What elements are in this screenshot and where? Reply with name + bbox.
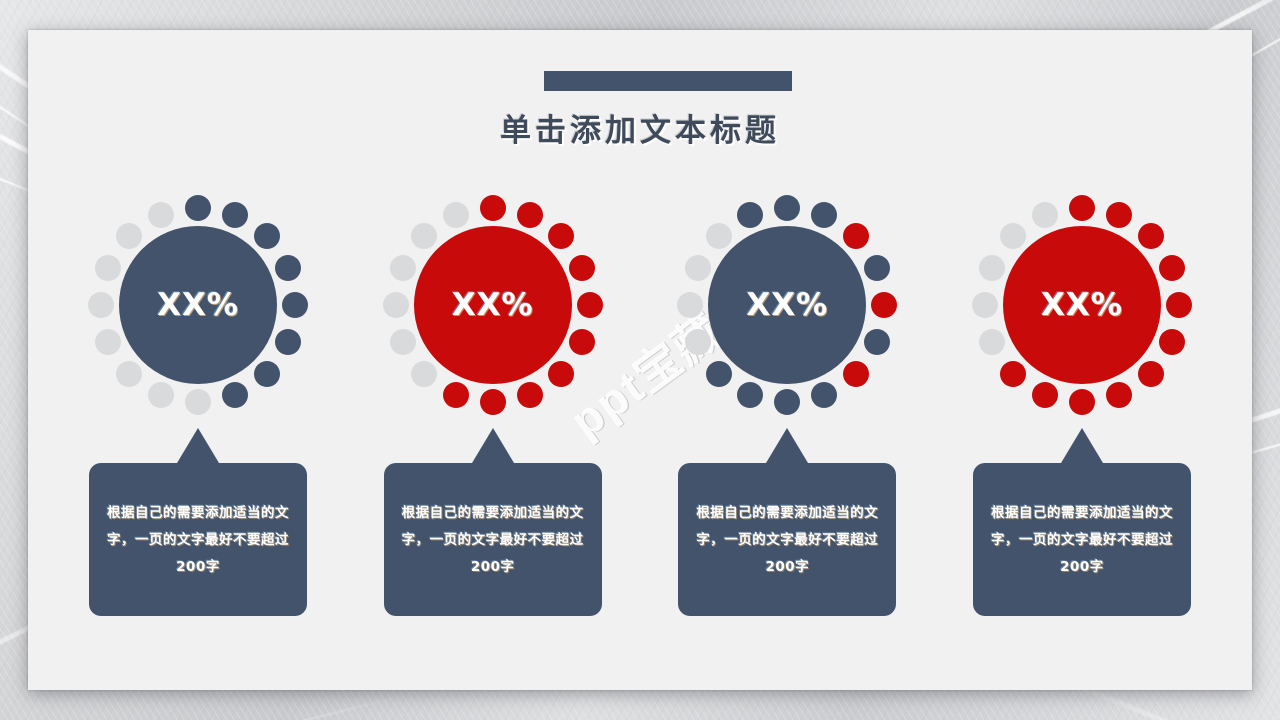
dial-pip: [1032, 382, 1058, 408]
dial-pip: [685, 329, 711, 355]
dial-pip: [1000, 361, 1026, 387]
callout-text: 根据自己的需要添加适当的文字，一页的文字最好不要超过200字: [987, 500, 1177, 581]
dial-pip: [706, 223, 732, 249]
dial-pip: [1069, 195, 1095, 221]
callout-box[interactable]: 根据自己的需要添加适当的文字，一页的文字最好不要超过200字: [384, 463, 602, 616]
callout-text: 根据自己的需要添加适当的文字，一页的文字最好不要超过200字: [692, 500, 882, 581]
dial-pip: [443, 382, 469, 408]
dial-hub[interactable]: XX%: [119, 226, 277, 384]
slide-canvas: 单击添加文本标题 ppt宝藏 XX%根据自己的需要添加适当的文字，一页的文字最好…: [28, 30, 1252, 690]
dial-pip: [548, 361, 574, 387]
dial-value: XX%: [157, 287, 239, 323]
page-title[interactable]: 单击添加文本标题: [28, 105, 1252, 150]
dial-pip: [254, 223, 280, 249]
dial-pip: [411, 361, 437, 387]
dial-pip: [148, 382, 174, 408]
dial-pip: [222, 382, 248, 408]
dial-pip: [871, 292, 897, 318]
dial-hub[interactable]: XX%: [1003, 226, 1161, 384]
dial-pip: [706, 361, 732, 387]
dial-pip: [282, 292, 308, 318]
dial-pip: [517, 382, 543, 408]
callout-text: 根据自己的需要添加适当的文字，一页的文字最好不要超过200字: [103, 500, 293, 581]
callout-box[interactable]: 根据自己的需要添加适当的文字，一页的文字最好不要超过200字: [678, 463, 896, 616]
dial-value: XX%: [452, 287, 534, 323]
dial-pip: [275, 255, 301, 281]
dial-pip: [1069, 389, 1095, 415]
dial-pip: [843, 223, 869, 249]
dial-pip: [480, 195, 506, 221]
dial-pip: [569, 329, 595, 355]
dial-pip: [1106, 202, 1132, 228]
dial-hub[interactable]: XX%: [708, 226, 866, 384]
dial-pip: [864, 329, 890, 355]
dial-pip: [737, 382, 763, 408]
dial-pip: [685, 255, 711, 281]
progress-dial: XX%: [972, 195, 1192, 415]
callout-text: 根据自己的需要添加适当的文字，一页的文字最好不要超过200字: [398, 500, 588, 581]
dial-pip: [979, 255, 1005, 281]
dial-pip: [95, 329, 121, 355]
dial-pip: [843, 361, 869, 387]
dial-pip: [577, 292, 603, 318]
dial-pip: [411, 223, 437, 249]
dial-pip: [548, 223, 574, 249]
stat-column: XX%根据自己的需要添加适当的文字，一页的文字最好不要超过200字: [958, 195, 1206, 665]
callout-box[interactable]: 根据自己的需要添加适当的文字，一页的文字最好不要超过200字: [973, 463, 1191, 616]
dial-pip: [254, 361, 280, 387]
dial-pip: [864, 255, 890, 281]
progress-dial: XX%: [677, 195, 897, 415]
dial-pip: [737, 202, 763, 228]
progress-dial: XX%: [383, 195, 603, 415]
callout-box[interactable]: 根据自己的需要添加适当的文字，一页的文字最好不要超过200字: [89, 463, 307, 616]
dial-pip: [1032, 202, 1058, 228]
progress-dial: XX%: [88, 195, 308, 415]
callout-pointer: [472, 428, 514, 463]
dial-pip: [148, 202, 174, 228]
title-accent-bar: [544, 71, 792, 91]
callout-pointer: [766, 428, 808, 463]
dial-pip: [774, 389, 800, 415]
dial-pip: [95, 255, 121, 281]
dial-pip: [1138, 223, 1164, 249]
dial-pip: [1000, 223, 1026, 249]
dial-pip: [185, 195, 211, 221]
dial-pip: [1106, 382, 1132, 408]
slide-root: 单击添加文本标题 ppt宝藏 XX%根据自己的需要添加适当的文字，一页的文字最好…: [0, 0, 1280, 720]
dial-pip: [677, 292, 703, 318]
stat-column: XX%根据自己的需要添加适当的文字，一页的文字最好不要超过200字: [663, 195, 911, 665]
dial-pip: [275, 329, 301, 355]
stat-column: XX%根据自己的需要添加适当的文字，一页的文字最好不要超过200字: [369, 195, 617, 665]
dial-pip: [517, 202, 543, 228]
dial-pip: [390, 255, 416, 281]
infographic-columns: XX%根据自己的需要添加适当的文字，一页的文字最好不要超过200字XX%根据自己…: [74, 195, 1206, 665]
dial-value: XX%: [746, 287, 828, 323]
dial-pip: [774, 195, 800, 221]
dial-pip: [811, 202, 837, 228]
dial-pip: [222, 202, 248, 228]
dial-pip: [443, 202, 469, 228]
dial-pip: [390, 329, 416, 355]
callout-pointer: [1061, 428, 1103, 463]
dial-pip: [972, 292, 998, 318]
dial-hub[interactable]: XX%: [414, 226, 572, 384]
dial-pip: [88, 292, 114, 318]
dial-pip: [116, 361, 142, 387]
dial-pip: [383, 292, 409, 318]
stat-column: XX%根据自己的需要添加适当的文字，一页的文字最好不要超过200字: [74, 195, 322, 665]
dial-pip: [811, 382, 837, 408]
dial-pip: [1159, 255, 1185, 281]
dial-pip: [1166, 292, 1192, 318]
dial-pip: [1159, 329, 1185, 355]
dial-value: XX%: [1041, 287, 1123, 323]
dial-pip: [1138, 361, 1164, 387]
dial-pip: [480, 389, 506, 415]
dial-pip: [979, 329, 1005, 355]
dial-pip: [569, 255, 595, 281]
callout-pointer: [177, 428, 219, 463]
dial-pip: [116, 223, 142, 249]
dial-pip: [185, 389, 211, 415]
